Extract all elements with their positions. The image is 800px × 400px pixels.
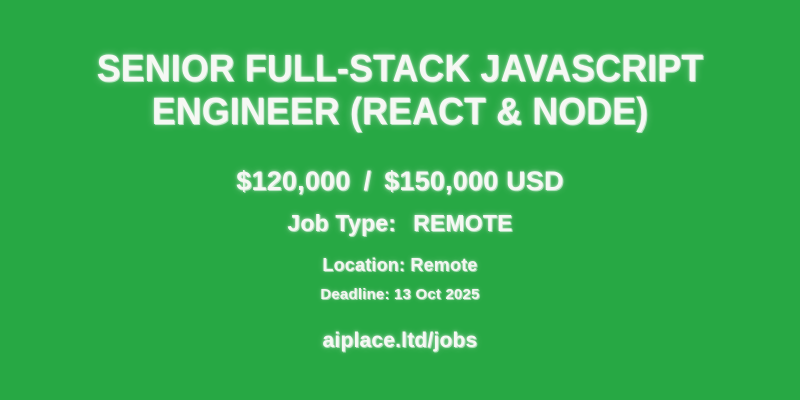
jobs-site-url-link[interactable]: aiplace.ltd/jobs [323, 329, 478, 353]
job-title-line-2: ENGINEER (REACT & NODE) [24, 93, 776, 132]
job-type-label: Job Type: [287, 210, 396, 237]
job-location: Location: Remote [322, 255, 477, 276]
job-deadline: Deadline: 13 Oct 2025 [320, 286, 479, 303]
job-title: SENIOR FULL-STACK JAVASCRIPT ENGINEER (R… [0, 50, 800, 132]
job-title-line-1: SENIOR FULL-STACK JAVASCRIPT [24, 50, 776, 89]
salary-min: $120,000 [236, 166, 350, 197]
salary-separator: / [363, 166, 371, 197]
job-type: Job Type: REMOTE [287, 210, 512, 237]
job-posting-card: SENIOR FULL-STACK JAVASCRIPT ENGINEER (R… [0, 0, 800, 400]
salary-max: $150,000 USD [384, 166, 564, 197]
salary-range: $120,000 / $150,000 USD [236, 166, 563, 197]
job-type-value: REMOTE [413, 210, 513, 237]
